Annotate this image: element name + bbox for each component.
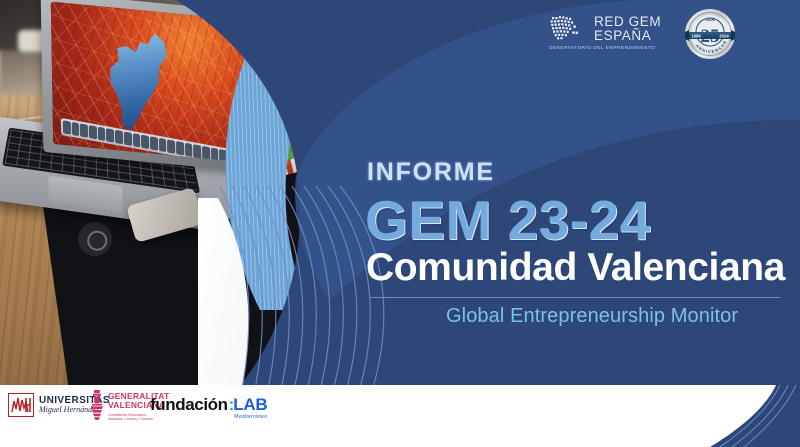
red-gem-line2: ESPAÑA	[594, 29, 661, 43]
programme-subtitle: Global Entrepreneurship Monitor	[446, 305, 738, 328]
red-gem-wordmark: RED GEM ESPAÑA	[594, 15, 661, 43]
svg-text:1999: 1999	[691, 34, 701, 39]
laptop-trackpad	[48, 176, 122, 212]
svg-text:2024: 2024	[719, 34, 729, 39]
title-divider	[370, 297, 780, 298]
footer-logo-bar: UNIVERSITAS Miguel Hernández GENERALITA	[0, 385, 800, 447]
red-gem-line1: RED GEM	[594, 15, 661, 29]
generalitat-crest-icon	[90, 390, 104, 420]
fundacion-lab-wordmark: fundación : LAB	[150, 395, 267, 415]
anniversary-seal-icon: GEM 25 1999 2024 ANNIVERSARY	[684, 8, 736, 60]
report-cover: RED GEM ESPAÑA OBSERVATORIO DEL EMPRENDI…	[0, 0, 800, 447]
svg-text:GEM: GEM	[705, 17, 715, 22]
kicker-informe: INFORME	[367, 158, 495, 187]
page-subtitle-region: Comunidad Valenciana	[366, 246, 785, 290]
umh-monogram-icon	[8, 393, 34, 417]
lab-word-lab: LAB	[233, 395, 267, 415]
spain-map-dots-icon	[549, 14, 587, 43]
lab-word-fundacion: fundación	[150, 395, 228, 415]
fundacion-lab-logo: fundación : LAB Mediterráneo	[150, 395, 267, 420]
page-title-gem: GEM 23-24	[365, 188, 651, 252]
footer-curve-decoration	[680, 385, 800, 447]
red-gem-espana-logo: RED GEM ESPAÑA	[549, 14, 661, 43]
red-gem-tagline: OBSERVATORIO DEL EMPRENDIMIENTO	[549, 45, 655, 50]
